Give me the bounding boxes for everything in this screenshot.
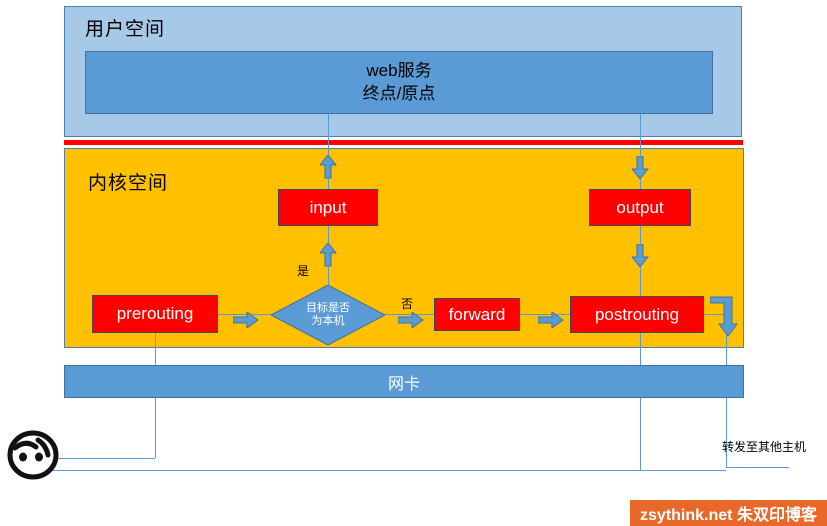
chain-box-prerouting[interactable]: prerouting <box>92 295 218 333</box>
connector-postrouting-to-nic <box>640 333 641 366</box>
arrow-up-icon <box>320 155 337 179</box>
web-service-line2: 终点/原点 <box>363 83 436 106</box>
connector-nic-right-drop <box>640 398 641 470</box>
arrow-up-icon <box>320 243 337 267</box>
connector-forward-note-underline <box>726 467 789 468</box>
decision-yes-label: 是 <box>297 262 309 279</box>
arrow-right-icon <box>233 312 259 328</box>
userspace-kernel-separator <box>64 140 743 145</box>
network-card-bar: 网卡 <box>64 365 744 398</box>
chain-box-input[interactable]: input <box>278 189 378 226</box>
chain-box-postrouting[interactable]: postrouting <box>570 296 704 333</box>
web-service-box: web服务 终点/原点 <box>85 51 713 114</box>
elbow-arrow-icon <box>710 294 740 339</box>
face-doodle-icon <box>6 430 62 480</box>
decision-no-label: 否 <box>401 295 413 312</box>
watermark-badge: zsythink.net 朱双印博客 <box>630 500 827 526</box>
connector-host-inbound <box>56 458 155 459</box>
diagram-canvas: 用户空间 web服务 终点/原点 内核空间 prerouting input f… <box>0 0 827 526</box>
arrow-down-icon <box>632 244 649 268</box>
arrow-down-icon <box>632 156 649 180</box>
chain-box-forward[interactable]: forward <box>434 298 520 331</box>
connector-host-outbound <box>44 470 726 471</box>
decision-line1: 目标是否 <box>306 302 350 315</box>
web-service-line1: web服务 <box>366 60 431 83</box>
arrow-right-icon <box>538 312 564 328</box>
kernelspace-label: 内核空间 <box>88 168 168 195</box>
connector-input-to-userspace <box>328 114 329 159</box>
arrow-right-icon <box>398 312 424 328</box>
decision-diamond-text: 目标是否 为本机 <box>271 285 385 345</box>
forward-note-label: 转发至其他主机 <box>722 438 806 455</box>
decision-diamond[interactable]: 目标是否 为本机 <box>271 285 385 345</box>
decision-line2: 为本机 <box>312 315 345 328</box>
userspace-label: 用户空间 <box>85 14 165 41</box>
connector-prerouting-to-nic <box>155 333 156 366</box>
connector-nic-to-host <box>155 398 156 458</box>
chain-box-output[interactable]: output <box>589 189 691 226</box>
